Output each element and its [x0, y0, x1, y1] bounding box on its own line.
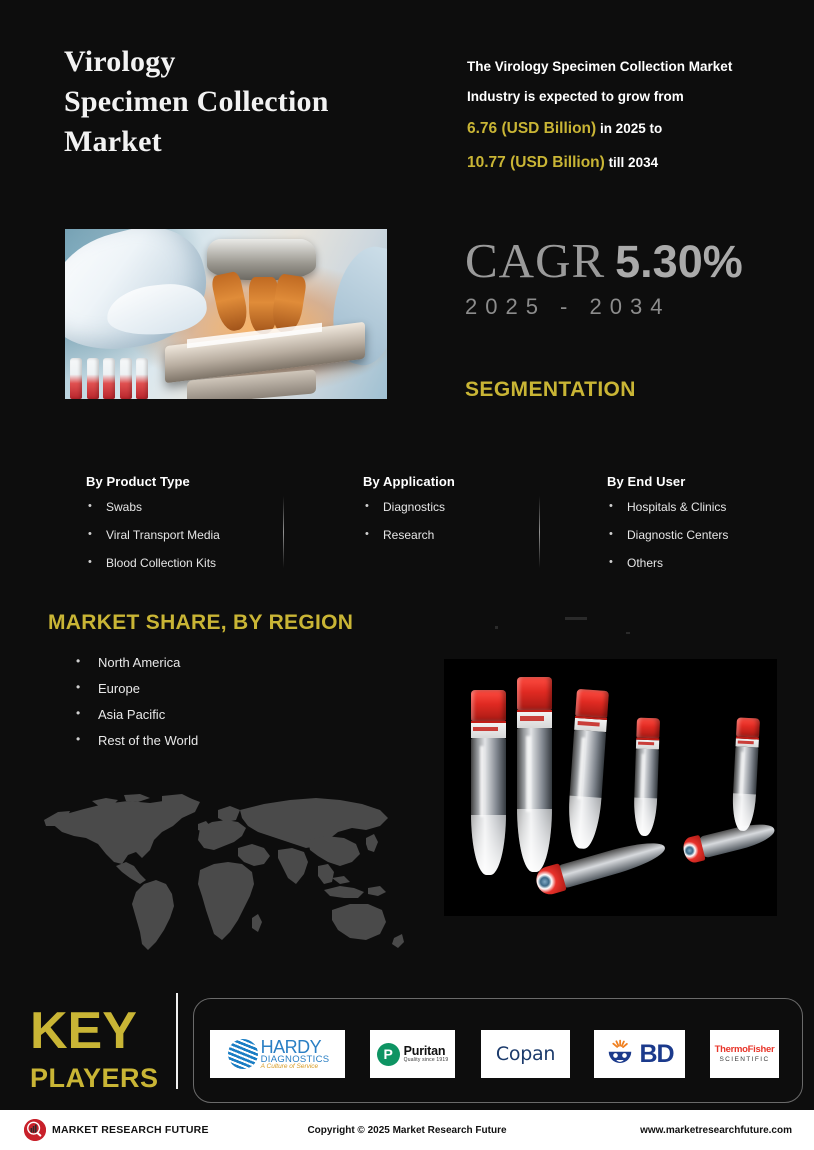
- cagr-label: CAGR: [465, 233, 605, 288]
- specimen-tube-6-lying: [533, 834, 669, 898]
- logo-copan[interactable]: Copan: [481, 1030, 570, 1078]
- continents: [44, 794, 404, 950]
- list-item: Blood Collection Kits: [86, 557, 296, 570]
- page-title-line-2: Specimen Collection: [64, 82, 444, 122]
- specimen-tube-3: [566, 689, 609, 850]
- segmentation-column-product-type: By Product Type Swabs Viral Transport Me…: [86, 474, 296, 586]
- segmentation-column-end-user: By End User Hospitals & Clinics Diagnost…: [607, 474, 814, 586]
- tube-body: [566, 730, 606, 850]
- market-value-2034: 10.77 (USD Billion): [467, 154, 605, 171]
- summary-mid: in 2025 to: [596, 121, 662, 136]
- logo-puritan[interactable]: P Puritan Quality since 1919: [370, 1030, 455, 1078]
- list-item: Viral Transport Media: [86, 529, 296, 542]
- segmentation-heading: SEGMENTATION: [465, 378, 636, 402]
- bd-sunburst-icon: [605, 1039, 635, 1069]
- tube-cap: [636, 718, 660, 739]
- hardy-globe-icon: [228, 1039, 258, 1069]
- puritan-p-icon: P: [377, 1043, 400, 1066]
- specimen-collection-tubes-photo: [444, 659, 777, 916]
- list-item: Others: [607, 557, 814, 570]
- segment-heading-product-type: By Product Type: [86, 474, 296, 489]
- thermo-subtitle: SCIENTIFIC: [715, 1056, 775, 1063]
- list-item: Research: [363, 529, 563, 542]
- logo-hardy-diagnostics[interactable]: HARDY DIAGNOSTICS A Culture of Service: [210, 1030, 345, 1078]
- segmentation-column-application: By Application Diagnostics Research: [363, 474, 563, 557]
- tube-label: [636, 738, 660, 749]
- market-summary: The Virology Specimen Collection Market …: [467, 52, 797, 181]
- blood-sample-tubes: [68, 358, 177, 399]
- key-players-title: KEY PLAYERS: [30, 1005, 170, 1092]
- tube-cap: [736, 717, 760, 737]
- page-title-line-1: Virology: [64, 42, 444, 82]
- segment-heading-end-user: By End User: [607, 474, 814, 489]
- bd-mark-svg: [605, 1039, 635, 1069]
- tube-body: [517, 728, 552, 873]
- hardy-wordmark: HARDY DIAGNOSTICS A Culture of Service: [261, 1038, 330, 1071]
- cagr-value: 5.30%: [615, 236, 743, 287]
- artifact-mark: [626, 632, 630, 634]
- key-players-title-line-1: KEY: [30, 1005, 170, 1057]
- footer: MARKET RESEARCH FUTURE Copyright © 2025 …: [0, 1110, 814, 1150]
- list-item: Europe: [72, 681, 198, 696]
- tube-cap: [575, 689, 608, 718]
- page-title: Virology Specimen Collection Market: [64, 42, 444, 162]
- hardy-logo-group: HARDY DIAGNOSTICS A Culture of Service: [226, 1038, 330, 1071]
- tube-label: [471, 721, 506, 738]
- tube-body: [697, 819, 776, 858]
- puritan-logo-group: P Puritan Quality since 1919: [377, 1043, 449, 1066]
- cagr-headline: CAGR5.30%: [465, 232, 743, 289]
- summary-line-1: The Virology Specimen Collection Market: [467, 59, 732, 74]
- world-map-svg: [32, 792, 422, 960]
- list-item: Swabs: [86, 501, 296, 514]
- tube-label: [517, 710, 552, 728]
- blood-tube: [136, 358, 148, 399]
- region-list: North America Europe Asia Pacific Rest o…: [72, 655, 198, 759]
- logo-thermo-fisher-scientific[interactable]: ThermoFisher SCIENTIFIC: [710, 1030, 779, 1078]
- microscope-laboratory-photo: [65, 229, 387, 399]
- thermo-logo-group: ThermoFisher SCIENTIFIC: [715, 1045, 775, 1063]
- list-item: Asia Pacific: [72, 707, 198, 722]
- blood-tube: [87, 358, 99, 399]
- page-title-line-3: Market: [64, 122, 444, 162]
- specimen-tube-5: [731, 717, 760, 831]
- list-item: North America: [72, 655, 198, 670]
- list-item: Diagnostics: [363, 501, 563, 514]
- market-share-region-heading: MARKET SHARE, BY REGION: [48, 611, 353, 635]
- list-item: Rest of the World: [72, 733, 198, 748]
- segment-heading-application: By Application: [363, 474, 563, 489]
- blood-tube: [70, 358, 82, 399]
- tube-body: [731, 747, 759, 832]
- tube-body: [471, 738, 506, 875]
- blood-tube: [103, 358, 115, 399]
- summary-line-2: Industry is expected to grow from: [467, 89, 684, 104]
- artifact-mark: [565, 617, 587, 620]
- tube-cap: [517, 677, 552, 710]
- key-players-separator: [176, 993, 178, 1089]
- specimen-tube-1: [471, 690, 506, 875]
- puritan-wordmark: Puritan Quality since 1919: [404, 1045, 449, 1063]
- puritan-tagline: Quality since 1919: [404, 1058, 449, 1063]
- cagr-block: CAGR5.30% 2025 - 2034: [465, 232, 743, 320]
- thermo-name: ThermoFisher: [715, 1045, 775, 1056]
- specimen-tube-2: [517, 677, 552, 872]
- segment-list-product-type: Swabs Viral Transport Media Blood Collec…: [86, 501, 296, 571]
- blood-tube: [120, 358, 132, 399]
- puritan-name: Puritan: [404, 1045, 449, 1058]
- segment-list-application: Diagnostics Research: [363, 501, 563, 542]
- cagr-period: 2025 - 2034: [465, 294, 743, 320]
- world-map: [32, 792, 422, 960]
- specimen-tube-7-lying: [681, 817, 777, 864]
- list-item: Diagnostic Centers: [607, 529, 814, 542]
- tube-cap: [471, 690, 506, 721]
- market-value-2025: 6.76 (USD Billion): [467, 120, 596, 137]
- bd-wordmark: BD: [639, 1040, 673, 1069]
- hardy-name: HARDY: [261, 1038, 330, 1056]
- artifact-mark: [495, 626, 498, 629]
- logo-bd[interactable]: BD: [594, 1030, 685, 1078]
- specimen-tube-4: [633, 718, 660, 837]
- summary-tail: till 2034: [605, 155, 658, 170]
- bd-logo-group: BD: [605, 1039, 673, 1069]
- tube-body: [633, 748, 659, 836]
- footer-copyright: Copyright © 2025 Market Research Future: [0, 1125, 814, 1136]
- copan-wordmark: Copan: [496, 1043, 555, 1065]
- segment-list-end-user: Hospitals & Clinics Diagnostic Centers O…: [607, 501, 814, 571]
- key-players-title-line-2: PLAYERS: [30, 1065, 170, 1092]
- list-item: Hospitals & Clinics: [607, 501, 814, 514]
- hardy-tagline: A Culture of Service: [261, 1064, 330, 1071]
